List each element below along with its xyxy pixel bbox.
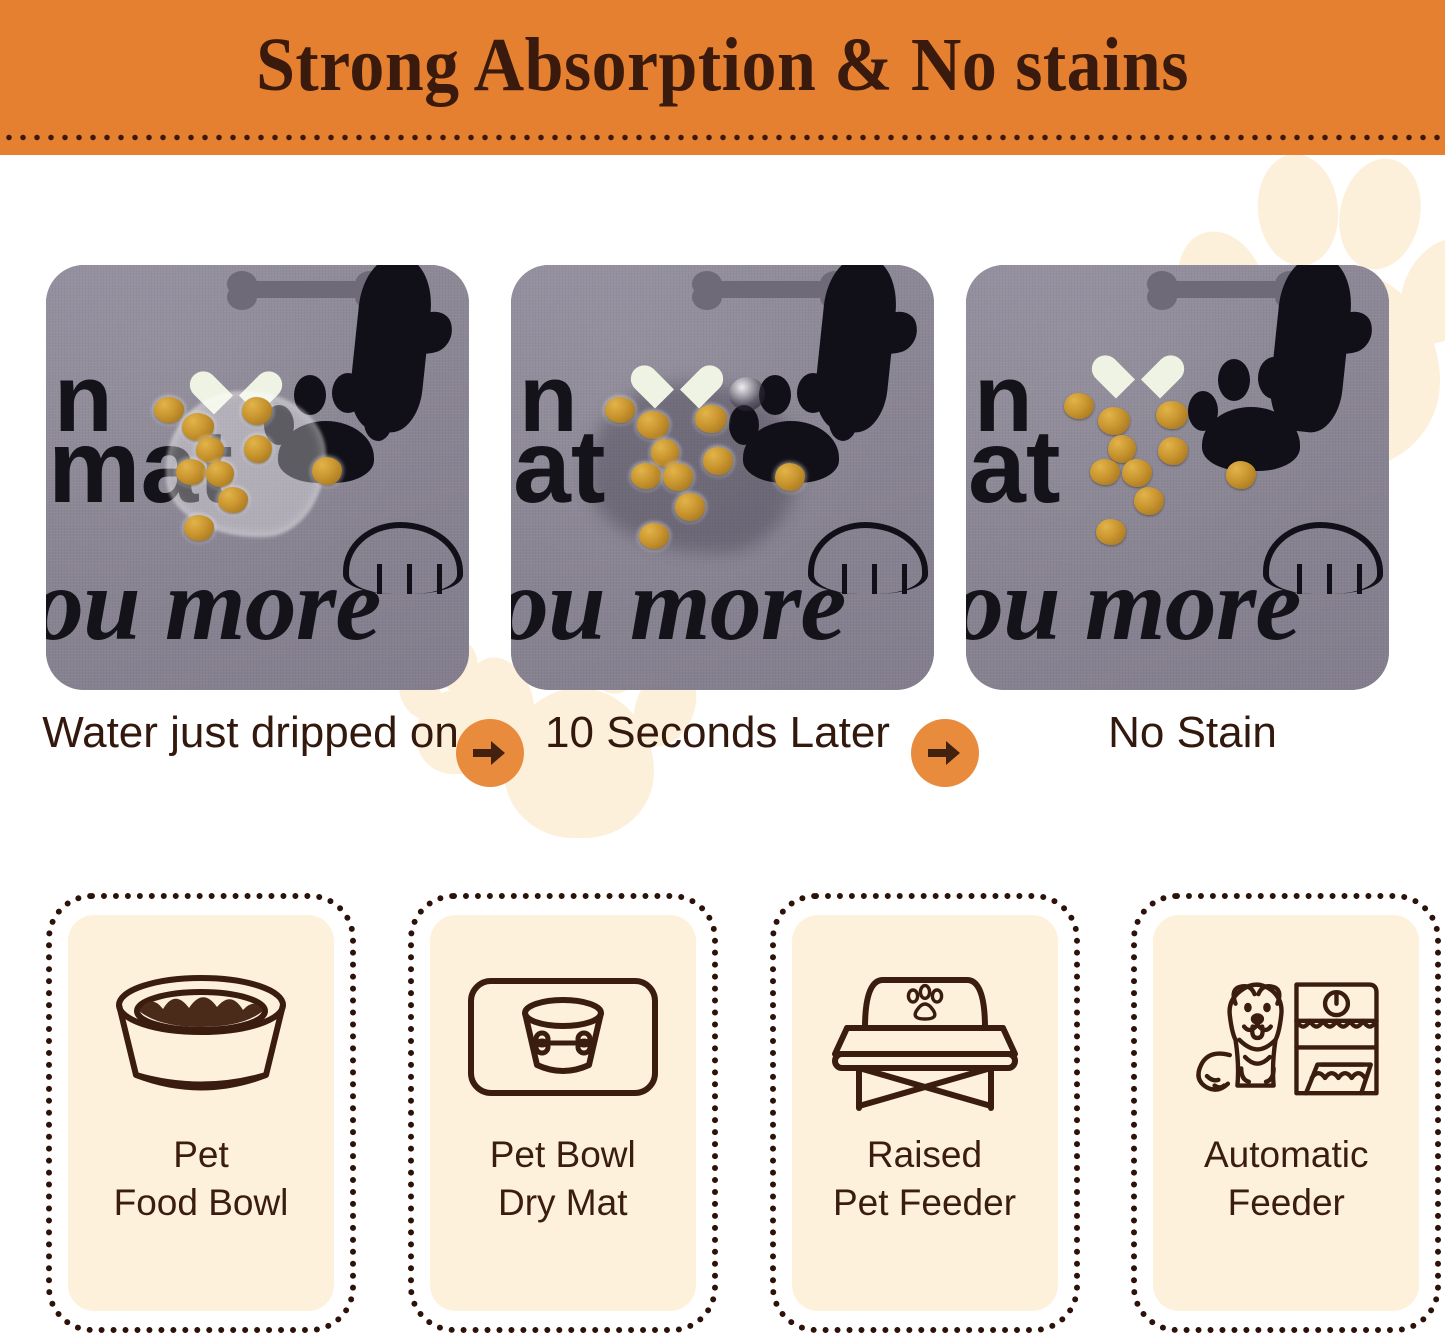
mat-script-text: ou more — [966, 553, 1300, 657]
demo-photo-step-2: n at ou more — [511, 265, 934, 690]
mat-letter-middle: at — [513, 415, 605, 519]
compat-card-automatic-feeder[interactable]: Automatic Feeder — [1131, 893, 1445, 1342]
mat-letter-middle: at — [968, 415, 1060, 519]
infographic-page: Strong Absorption & No stains n mat ou m… — [0, 0, 1445, 1342]
compat-card-raised-pet-feeder[interactable]: Raised Pet Feeder — [770, 893, 1084, 1342]
card-label-line1: Raised — [833, 1131, 1016, 1179]
dotted-divider — [0, 133, 1445, 142]
card-label-line1: Pet Bowl — [490, 1131, 636, 1179]
heart-icon — [1112, 347, 1164, 395]
automatic-feeder-icon — [1186, 957, 1386, 1117]
card-label: Automatic Feeder — [1204, 1131, 1369, 1227]
paw-print-graphic-icon — [1188, 357, 1318, 481]
page-title: Strong Absorption & No stains — [58, 22, 1387, 109]
compat-card-pet-food-bowl[interactable]: Pet Food Bowl — [46, 893, 360, 1342]
card-label-line1: Automatic — [1204, 1131, 1369, 1179]
water-droplet — [729, 377, 765, 411]
card-label-line2: Food Bowl — [114, 1179, 289, 1227]
compat-card-pet-bowl-dry-mat[interactable]: Pet Bowl Dry Mat — [408, 893, 722, 1342]
heart-icon — [651, 357, 703, 405]
mat-script-text: ou more — [511, 553, 845, 657]
caption-step-1: Water just dripped on — [10, 706, 491, 760]
demo-captions: Water just dripped on 10 Seconds Later N… — [0, 706, 1445, 760]
card-label-line2: Pet Feeder — [833, 1179, 1016, 1227]
pet-food-bowl-icon — [101, 957, 301, 1117]
pet-bowl-dry-mat-icon — [463, 957, 663, 1117]
card-label: Raised Pet Feeder — [833, 1131, 1016, 1227]
raised-pet-feeder-icon — [825, 957, 1025, 1117]
header-banner: Strong Absorption & No stains — [0, 0, 1445, 155]
caption-step-2: 10 Seconds Later — [477, 706, 958, 760]
card-label-line2: Feeder — [1204, 1179, 1369, 1227]
card-label: Pet Food Bowl — [114, 1131, 289, 1227]
compatibility-cards: Pet Food Bowl — [0, 893, 1445, 1342]
card-label-line1: Pet — [114, 1131, 289, 1179]
demo-photo-step-1: n mat ou more — [46, 265, 469, 690]
demo-photo-step-3: n at ou more — [966, 265, 1389, 690]
card-label: Pet Bowl Dry Mat — [490, 1131, 636, 1227]
absorption-demo-row: n mat ou more — [0, 265, 1445, 695]
card-label-line2: Dry Mat — [490, 1179, 636, 1227]
caption-step-3: No Stain — [952, 706, 1433, 760]
mat-script-text: ou more — [46, 553, 380, 657]
